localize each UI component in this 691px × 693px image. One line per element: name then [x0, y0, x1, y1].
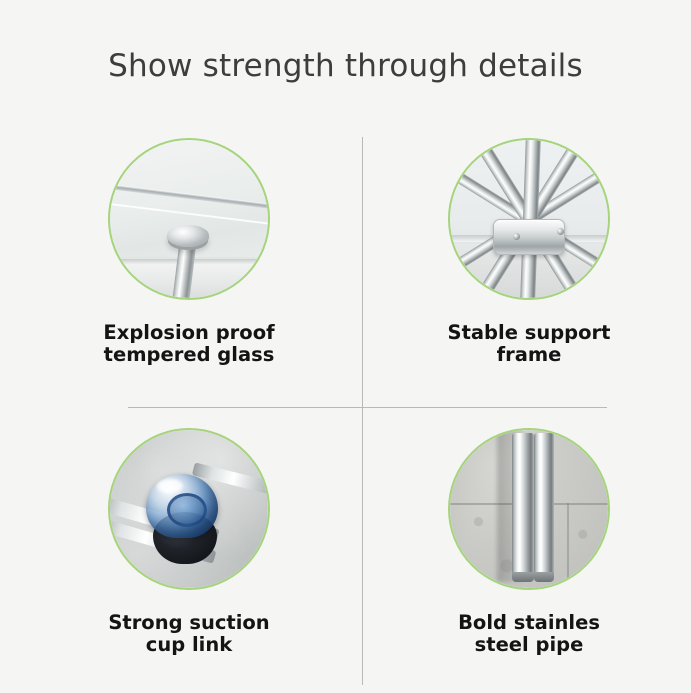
caption-line-2: cup link	[24, 634, 354, 656]
clamp-collar	[493, 219, 566, 255]
feature-image-suction-cup	[108, 428, 270, 590]
feature-cell-tempered-glass: Explosion proof tempered glass	[24, 138, 354, 366]
feature-cell-support-frame: Stable support frame	[364, 138, 691, 366]
feature-image-tempered-glass	[108, 138, 270, 300]
feature-cell-suction-cup: Strong suction cup link	[24, 428, 354, 656]
grid-divider-horizontal	[128, 407, 607, 408]
feature-caption-support-frame: Stable support frame	[364, 322, 691, 366]
feature-image-support-frame	[448, 138, 610, 300]
feature-caption-steel-pipe: Bold stainles steel pipe	[364, 612, 691, 656]
steel-pipe-photo	[450, 430, 608, 588]
glass-standoff-photo	[110, 140, 268, 298]
feature-image-steel-pipe	[448, 428, 610, 590]
caption-line-2: frame	[364, 344, 691, 366]
caption-line-2: steel pipe	[364, 634, 691, 656]
caption-line-1: Strong suction	[108, 611, 269, 634]
feature-cell-steel-pipe: Bold stainles steel pipe	[364, 428, 691, 656]
caption-line-1: Explosion proof	[103, 321, 274, 344]
feature-caption-tempered-glass: Explosion proof tempered glass	[24, 322, 354, 366]
pipe-foot-right	[534, 572, 554, 582]
caption-line-1: Stable support	[448, 321, 611, 344]
standoff-cap-top	[167, 225, 209, 247]
pipe-foot-left	[512, 572, 534, 582]
tile-grout-vertical	[567, 503, 569, 588]
feature-caption-suction-cup: Strong suction cup link	[24, 612, 354, 656]
grid-divider-vertical	[362, 137, 363, 685]
caption-line-1: Bold stainles	[458, 611, 600, 634]
frame-clamp-photo	[450, 140, 608, 298]
product-detail-infographic: Show strength through details Explosion …	[0, 0, 691, 693]
caption-line-2: tempered glass	[24, 344, 354, 366]
steel-pipe-left	[512, 433, 534, 580]
suction-cup-photo	[110, 430, 268, 588]
steel-pipe-right	[534, 433, 554, 580]
suction-cup-inner-ring	[167, 493, 207, 527]
page-title: Show strength through details	[0, 48, 691, 84]
